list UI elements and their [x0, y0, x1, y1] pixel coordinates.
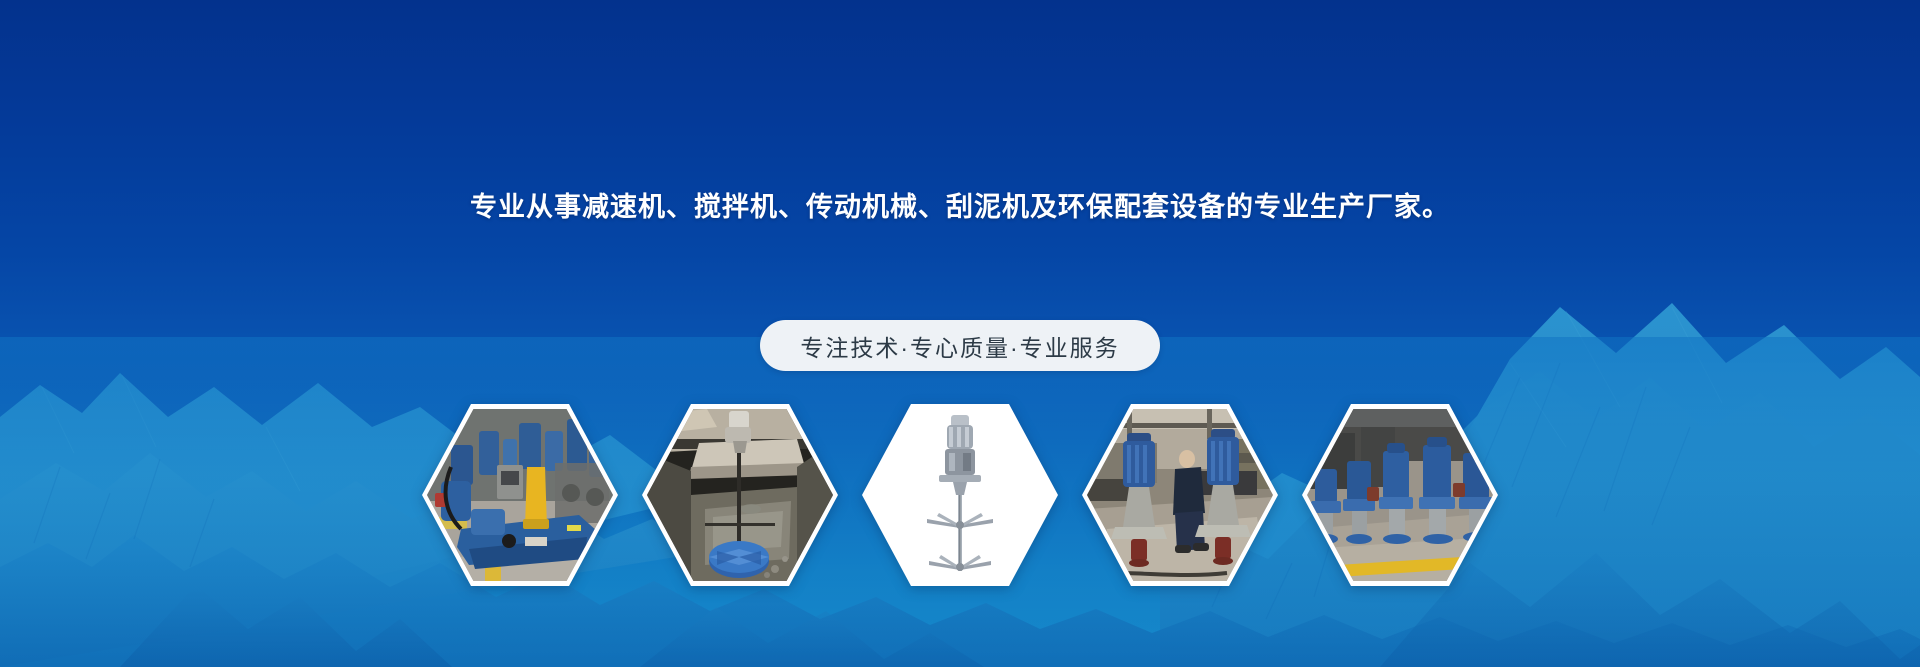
hero-banner: 专业从事减速机、搅拌机、传动机械、刮泥机及环保配套设备的专业生产厂家。 专注技术… [0, 0, 1920, 667]
hex-thumb-gearbox-row[interactable] [1302, 404, 1498, 586]
hexagon-gallery [0, 404, 1920, 586]
page-title: 专业从事减速机、搅拌机、传动机械、刮泥机及环保配套设备的专业生产厂家。 [0, 190, 1920, 225]
hex-thumb-vertical-agitator-product[interactable] [862, 404, 1058, 586]
hex-thumb-workshop-mixers[interactable] [1082, 404, 1278, 586]
hex-thumb-gearbox-assembly[interactable] [422, 404, 618, 586]
slogan-row: 专注技术·专心质量·专业服务 [0, 320, 1920, 371]
slogan-badge: 专注技术·专心质量·专业服务 [760, 320, 1159, 371]
hex-thumb-tank-mixer[interactable] [642, 404, 838, 586]
